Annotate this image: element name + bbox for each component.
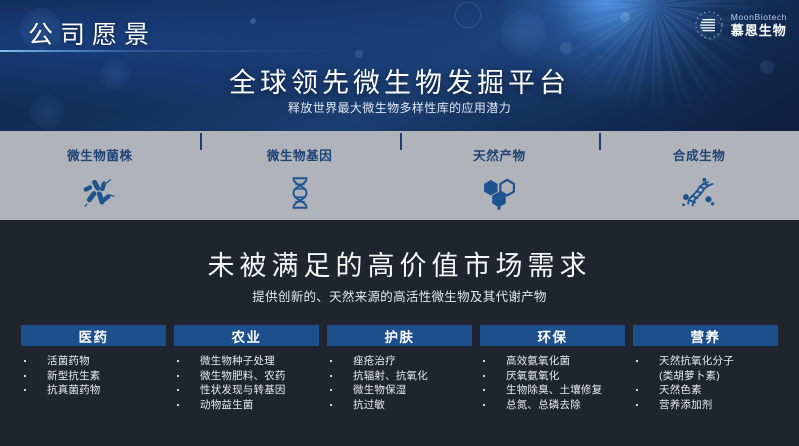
list-item: 总氮、总磷去除 <box>480 398 625 413</box>
list-item: 微生物保湿 <box>327 383 472 398</box>
list-item: 抗辐射、抗氧化 <box>327 369 472 384</box>
capability-item-natural-products[interactable]: 天然产物 <box>400 131 600 212</box>
column-header[interactable]: 环保 <box>480 325 625 346</box>
list-item: 性状发现与转基因 <box>174 383 319 398</box>
brand-logo: MoonBiotech 慕恩生物 <box>694 10 787 40</box>
bokeh-decoration <box>455 2 481 28</box>
column-item-list: 痤疮治疗 抗辐射、抗氧化 微生物保湿 抗过敏 <box>327 354 472 412</box>
list-item: 微生物肥料、农药 <box>174 369 319 384</box>
list-item: 痤疮治疗 <box>327 354 472 369</box>
slide-canvas: 公司愿景 全球领先微生物发掘平台 释放世界最大微生物多样性库的应用潜力 <box>0 0 799 446</box>
market-section-title: 未被满足的高价值市场需求 <box>0 244 799 283</box>
bokeh-decoration <box>560 42 572 54</box>
list-item: 新型抗生素 <box>21 369 166 384</box>
dna-helix-icon <box>279 174 321 212</box>
column-header[interactable]: 农业 <box>174 325 319 346</box>
list-item: 营养添加剂 <box>633 398 778 413</box>
capability-label: 天然产物 <box>473 145 525 164</box>
brand-logo-text: MoonBiotech 慕恩生物 <box>731 13 787 38</box>
capability-band: 微生物菌株 <box>0 131 799 220</box>
list-item: 生物除臭、土壤修复 <box>480 383 625 398</box>
bokeh-decoration <box>250 18 256 24</box>
page-title: 全球领先微生物发掘平台 <box>0 61 799 100</box>
list-item: 天然抗氧化分子 <box>633 354 778 369</box>
market-column-pharma: 医药 活菌药物 新型抗生素 抗真菌药物 <box>21 325 166 435</box>
bokeh-decoration <box>355 50 363 58</box>
column-item-list: 活菌药物 新型抗生素 抗真菌药物 <box>21 354 166 398</box>
bokeh-decoration <box>500 10 546 56</box>
capability-label: 合成生物 <box>673 145 725 164</box>
list-item: 厌氧氨氧化 <box>480 369 625 384</box>
column-item-list: 天然抗氧化分子 (类胡萝卜素) 天然色素 营养添加剂 <box>633 354 778 412</box>
market-column-environment: 环保 高效氨氧化菌 厌氧氨氧化 生物除臭、土壤修复 总氮、总磷去除 <box>480 325 625 435</box>
header-banner: 公司愿景 全球领先微生物发掘平台 释放世界最大微生物多样性库的应用潜力 <box>0 0 799 131</box>
market-column-agriculture: 农业 微生物种子处理 微生物肥料、农药 性状发现与转基因 动物益生菌 <box>174 325 319 435</box>
capability-item-genes[interactable]: 微生物基因 <box>200 131 400 212</box>
kicker-underline <box>0 50 330 52</box>
column-header[interactable]: 医药 <box>21 325 166 346</box>
list-item: 抗过敏 <box>327 398 472 413</box>
market-column-skincare: 护肤 痤疮治疗 抗辐射、抗氧化 微生物保湿 抗过敏 <box>327 325 472 435</box>
brand-name-cn: 慕恩生物 <box>731 24 787 37</box>
list-item: 抗真菌药物 <box>21 383 166 398</box>
list-item: 高效氨氧化菌 <box>480 354 625 369</box>
page-subtitle: 释放世界最大微生物多样性库的应用潜力 <box>0 99 799 116</box>
column-item-list: 微生物种子处理 微生物肥料、农药 性状发现与转基因 动物益生菌 <box>174 354 319 412</box>
market-columns: 医药 活菌药物 新型抗生素 抗真菌药物 农业 微生物种子处理 微生物肥料、农药 … <box>21 325 778 435</box>
capability-item-strains[interactable]: 微生物菌株 <box>0 131 200 212</box>
list-item: 活菌药物 <box>21 354 166 369</box>
column-header[interactable]: 护肤 <box>327 325 472 346</box>
section-kicker: 公司愿景 <box>28 15 156 51</box>
column-item-list: 高效氨氧化菌 厌氧氨氧化 生物除臭、土壤修复 总氮、总磷去除 <box>480 354 625 412</box>
list-item-continuation: (类胡萝卜素) <box>633 369 778 384</box>
bokeh-decoration <box>620 12 630 22</box>
bacteria-cluster-icon <box>79 174 121 212</box>
list-item: 微生物种子处理 <box>174 354 319 369</box>
market-section-subtitle: 提供创新的、天然来源的高活性微生物及其代谢产物 <box>0 286 799 305</box>
capability-label: 微生物菌株 <box>67 145 133 164</box>
synthetic-biology-icon <box>678 174 720 212</box>
molecule-hexagon-icon <box>478 174 520 212</box>
market-column-nutrition: 营养 天然抗氧化分子 (类胡萝卜素) 天然色素 营养添加剂 <box>633 325 778 435</box>
moon-biotech-sphere-icon <box>694 10 724 40</box>
brand-name-en: MoonBiotech <box>731 13 787 22</box>
list-item: 动物益生菌 <box>174 398 319 413</box>
column-header[interactable]: 营养 <box>633 325 778 346</box>
capability-item-synthetic-biology[interactable]: 合成生物 <box>599 131 799 212</box>
list-item: 天然色素 <box>633 383 778 398</box>
capability-label: 微生物基因 <box>267 145 333 164</box>
